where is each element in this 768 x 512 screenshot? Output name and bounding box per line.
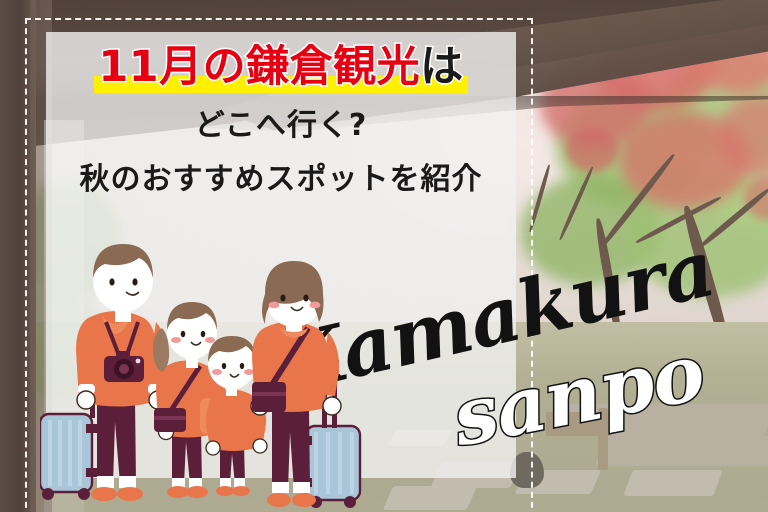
headline-particle-text: は [420, 42, 464, 92]
headline-line-2: どこへ行く? [46, 111, 516, 141]
garden-path [595, 436, 768, 466]
father-hand [77, 391, 95, 409]
figure-father [40, 244, 167, 501]
father-legs [97, 398, 136, 484]
headline-block: 11月の鎌倉観光は どこへ行く? 秋のおすすめスポットを紹介 [46, 46, 516, 195]
mother-shoe [292, 493, 316, 507]
son-hand [253, 439, 267, 453]
daughter-shoe [186, 486, 208, 498]
headline-line-3: 秋のおすすめスポットを紹介 [46, 165, 516, 195]
son-shoe [232, 486, 250, 496]
headline-line-1: 11月の鎌倉観光は [98, 46, 463, 89]
figure-mother [251, 261, 360, 508]
daughter-shoe [167, 486, 189, 498]
son-shoe [216, 486, 234, 496]
foliage-red-maple [566, 128, 618, 172]
mother-hand [323, 397, 341, 415]
family-illustration: .or{fill:#e8764a;} .or2{fill:#ef8a5c;} .… [40, 222, 370, 512]
mother-bag [252, 382, 286, 412]
poster-canvas: 11月の鎌倉観光は どこへ行く? 秋のおすすめスポットを紹介 Kamakura … [0, 0, 768, 512]
mother-legs [272, 406, 310, 490]
son-hand [206, 441, 220, 455]
daughter-legs [172, 430, 202, 484]
mother-shoe [267, 493, 291, 507]
father-shoe [117, 487, 143, 501]
stone-slab [623, 470, 722, 496]
headline-red-text: 11月の鎌倉観光 [98, 42, 420, 92]
father-shoe [91, 487, 117, 501]
